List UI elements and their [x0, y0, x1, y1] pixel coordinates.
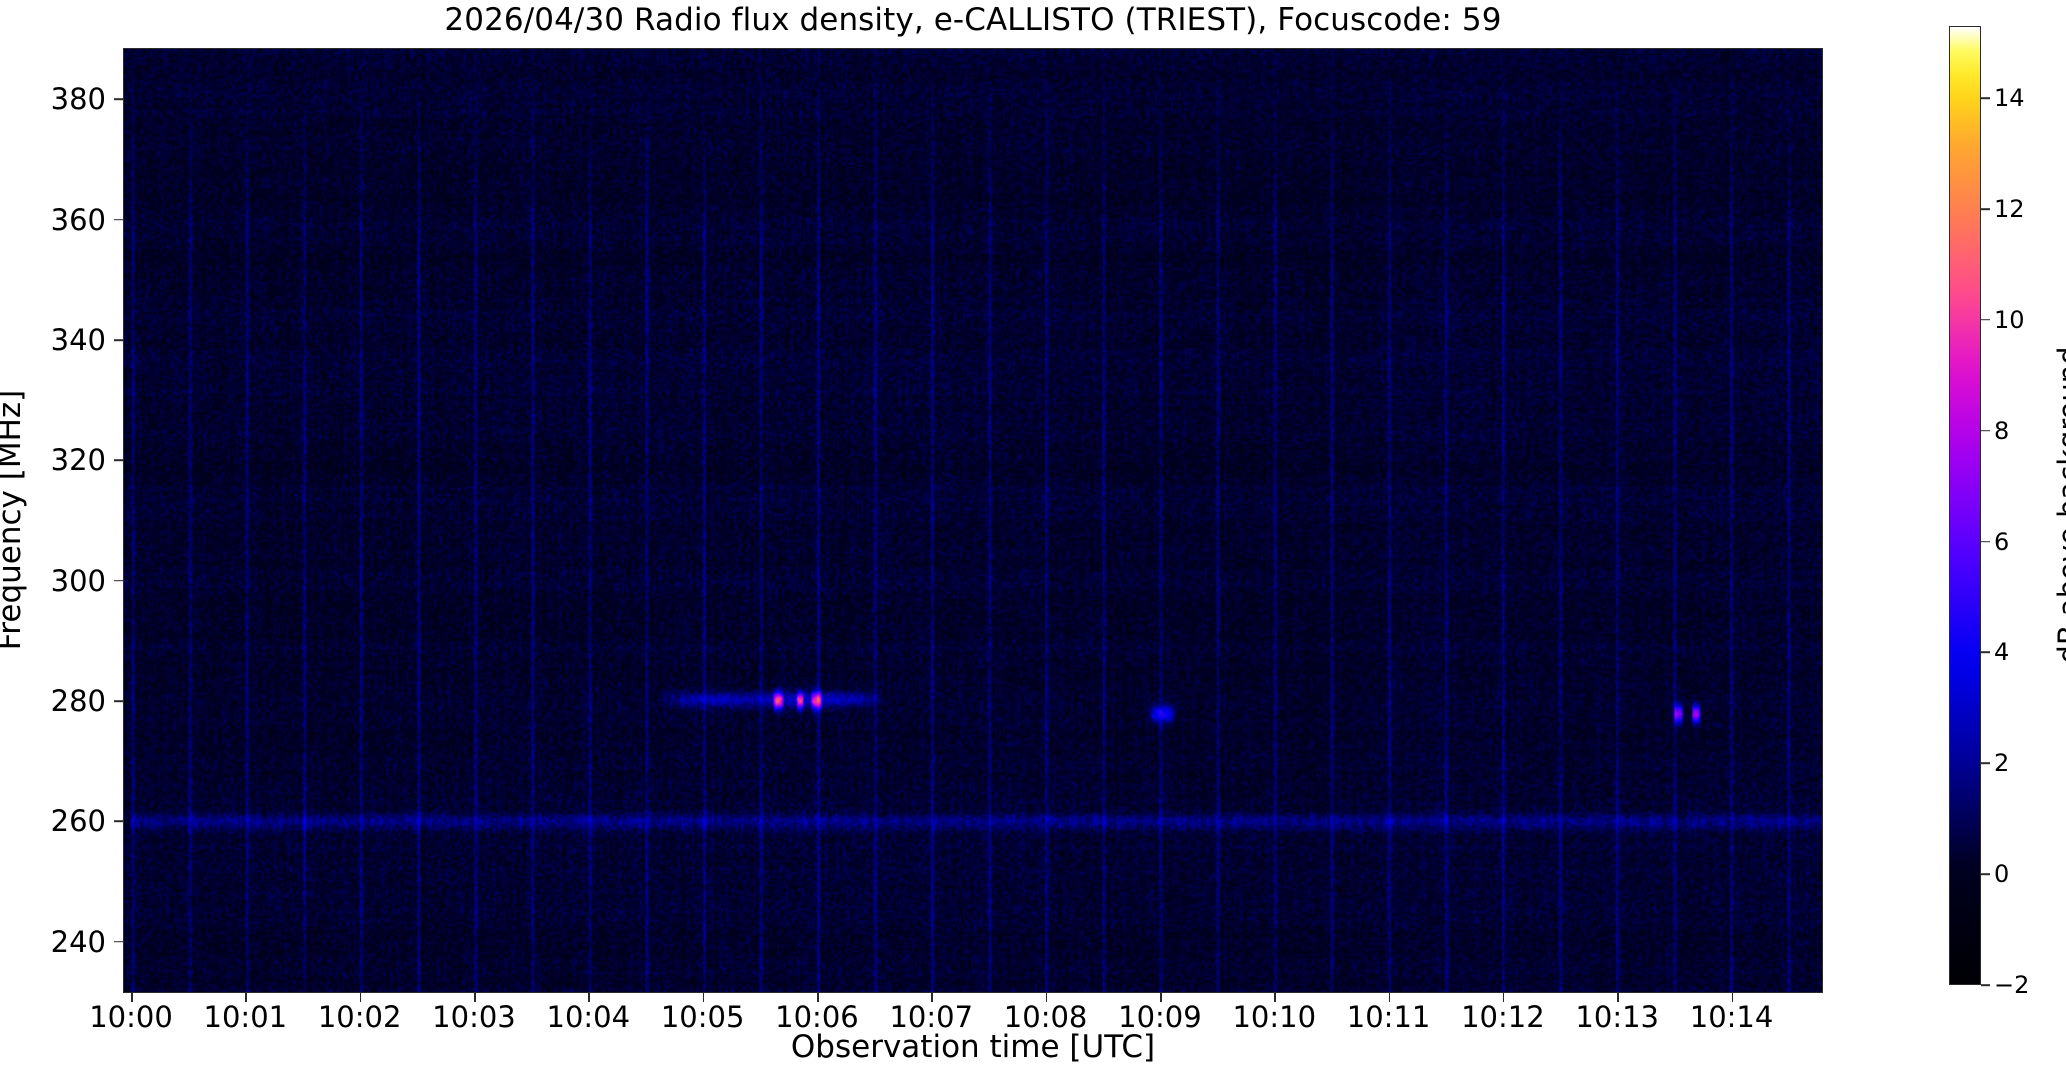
y-tick-mark: [114, 700, 123, 702]
y-tick-label: 340: [0, 323, 106, 357]
y-tick-label: 380: [0, 82, 106, 116]
colorbar-tick-mark: [1981, 208, 1990, 210]
x-tick-label: 10:04: [547, 1000, 631, 1034]
x-tick-label: 10:11: [1347, 1000, 1431, 1034]
colorbar-tick-label: 0: [1994, 860, 2009, 888]
x-tick-label: 10:05: [661, 1000, 745, 1034]
colorbar-tick-label: 14: [1994, 84, 2025, 112]
colorbar-tick-mark: [1981, 873, 1990, 875]
x-axis-label: Observation time [UTC]: [123, 1029, 1823, 1065]
colorbar-tick-mark: [1981, 319, 1990, 321]
y-tick-mark: [114, 339, 123, 341]
colorbar-tick-mark: [1981, 97, 1990, 99]
colorbar-tick-label: 6: [1994, 528, 2009, 556]
spectrogram-figure: 2026/04/30 Radio flux density, e-CALLIST…: [0, 0, 2066, 1067]
y-tick-label: 240: [0, 925, 106, 959]
colorbar-tick-label: −2: [1994, 971, 2029, 999]
y-tick-mark: [114, 821, 123, 823]
y-tick-mark: [114, 98, 123, 100]
y-tick-mark: [114, 941, 123, 943]
colorbar-tick-mark: [1981, 541, 1990, 543]
x-tick-label: 10:02: [318, 1000, 402, 1034]
x-tick-label: 10:14: [1690, 1000, 1774, 1034]
colorbar[interactable]: [1949, 26, 1981, 985]
y-tick-mark: [114, 580, 123, 582]
x-tick-label: 10:01: [204, 1000, 288, 1034]
colorbar-tick-mark: [1981, 652, 1990, 654]
colorbar-tick-label: 12: [1994, 195, 2025, 223]
colorbar-tick-mark: [1981, 984, 1990, 986]
colorbar-tick-label: 10: [1994, 306, 2025, 334]
y-tick-label: 360: [0, 203, 106, 237]
y-axis-label: Frequency [MHz]: [0, 390, 28, 651]
colorbar-tick-label: 4: [1994, 638, 2009, 666]
colorbar-tick-mark: [1981, 762, 1990, 764]
x-tick-label: 10:07: [889, 1000, 973, 1034]
spectrogram-axes[interactable]: [123, 48, 1823, 993]
x-tick-label: 10:09: [1118, 1000, 1202, 1034]
colorbar-gradient: [1950, 27, 1980, 984]
x-tick-label: 10:00: [89, 1000, 173, 1034]
x-tick-label: 10:10: [1232, 1000, 1316, 1034]
chart-title: 2026/04/30 Radio flux density, e-CALLIST…: [123, 2, 1823, 38]
x-tick-label: 10:08: [1004, 1000, 1088, 1034]
y-tick-label: 280: [0, 684, 106, 718]
x-tick-label: 10:03: [432, 1000, 516, 1034]
y-tick-label: 260: [0, 804, 106, 838]
x-tick-label: 10:12: [1461, 1000, 1545, 1034]
y-tick-mark: [114, 219, 123, 221]
x-tick-label: 10:13: [1575, 1000, 1659, 1034]
colorbar-tick-label: 2: [1994, 749, 2009, 777]
y-tick-mark: [114, 460, 123, 462]
colorbar-tick-label: 8: [1994, 417, 2009, 445]
colorbar-label: dB above background: [2052, 346, 2066, 663]
colorbar-tick-mark: [1981, 430, 1990, 432]
y-tick-label: 320: [0, 443, 106, 477]
y-tick-label: 300: [0, 564, 106, 598]
spectrogram-image: [124, 49, 1822, 992]
x-tick-label: 10:06: [775, 1000, 859, 1034]
